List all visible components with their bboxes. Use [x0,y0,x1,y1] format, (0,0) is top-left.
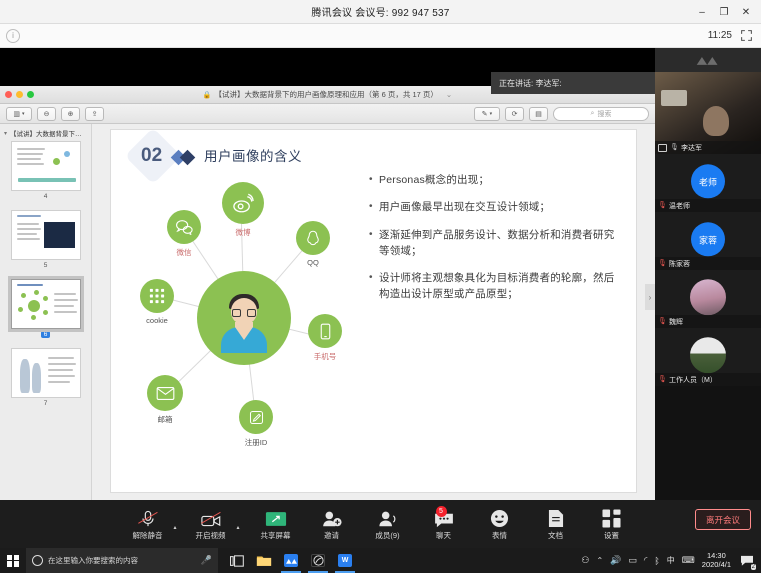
participant-tile[interactable]: 老师 🎙 温老师 [655,154,761,212]
next-slide-button[interactable]: › [645,284,655,310]
node-label-email: 邮箱 [144,414,186,425]
thumbnail-panel-header: ▾ 【试讲】大数据背景下的用户... [0,128,91,141]
mail-icon [156,386,175,401]
window-titlebar: 腾讯会议 会议号: 992 947 537 – ❐ ✕ [0,0,761,24]
tencent-meeting-logo-icon [695,55,721,66]
node-label-register-id: 注册ID [233,437,279,448]
toolbar-share-screen-button[interactable]: 共享屏幕 [248,508,304,541]
pencil-icon: ✎ [482,110,488,118]
node-wechat [167,210,201,244]
center-node-user [197,271,291,365]
toolbar-video-button[interactable]: 开启视频 [185,508,237,541]
camera-off-icon [201,508,221,528]
mac-zoom-icon[interactable] [27,91,34,98]
participants-icon [377,508,398,528]
node-qq [296,221,330,255]
chat-unread-badge: 5 [436,506,447,517]
invite-person-icon [322,508,342,528]
thumbnail-number: 4 [44,193,48,200]
avatar-initials: 家蓉 [699,233,717,246]
cortana-icon [32,555,43,566]
participant-tile[interactable]: 🎙 魏辉 [655,270,761,328]
battery-icon[interactable]: ▭ [628,555,637,566]
slide-bullet-list: • Personas概念的出现； • 用户画像最早出现在交互设计领域； • 逐渐… [369,172,624,314]
bluetooth-icon[interactable]: ᛒ [654,556,659,566]
avatar [690,337,726,373]
keyboard-icon[interactable]: ⌨ [682,555,695,566]
toolbar-label: 文档 [548,530,563,541]
shared-window-toolbar: ▥ ▾ ⊖ ⊕ ⇪ ✎ ▾ ⟳ ▤ ⌕ 搜索 [0,104,655,124]
people-icon[interactable]: ⚇ [581,555,589,566]
search-placeholder: 搜索 [597,109,611,119]
zoom-in-button[interactable]: ⊕ [61,107,80,121]
toolbar-label: 开启视频 [196,530,226,541]
participant-tile[interactable]: 🎙 工作人员（M） [655,328,761,386]
bullet-item: • Personas概念的出现； [369,172,624,188]
node-label-weibo: 微博 [222,227,264,238]
emoji-icon [490,508,509,528]
document-icon [548,508,564,528]
share-screen-icon [265,508,287,528]
slide-stage: 02 用户画像的含义 • Personas概念的出现； [92,124,655,500]
wechat-icon [175,218,194,237]
clock-date: 2020/4/1 [702,561,731,570]
maximize-button[interactable]: ❐ [713,0,735,24]
toolbar-label: 设置 [604,530,619,541]
slide-section-number: 02 [141,145,162,167]
qq-icon [304,229,322,247]
toolbar-participants-button[interactable]: 成员(9) [360,508,416,541]
share-button[interactable]: ⇪ [85,107,104,121]
diamond-decoration-icon [173,152,193,163]
active-speaker-banner: 正在讲话: 李达军: [491,72,655,94]
view-options-button[interactable]: ▥ ▾ [6,107,32,121]
thumbnail-number: 6 [41,331,51,338]
fullscreen-icon[interactable] [740,29,753,42]
view-icon: ▥ [13,110,20,118]
thumbnail-item[interactable]: 4 [0,141,91,200]
thumbnail-item-selected[interactable]: 6 [0,279,91,338]
chevron-up-icon: ▴ [237,524,240,531]
markup-button[interactable]: ✎ ▾ [474,107,500,121]
minimize-button[interactable]: – [691,0,713,24]
active-speaker-label: 正在讲话: 李达军: [499,78,562,89]
task-view-button[interactable] [224,548,250,573]
node-email [147,375,183,411]
thumbnail-item[interactable]: 5 [0,210,91,269]
node-label-qq: QQ [296,258,330,267]
bullet-item: • 逐渐延伸到产品服务设计、数据分析和消费者研究等领域； [369,227,624,260]
meeting-subbar: i 11:25 [0,24,761,48]
screen-share-icon [658,144,667,152]
taskbar-browser[interactable] [305,548,331,573]
rotate-button[interactable]: ⟳ [505,107,524,121]
toolbar-invite-button[interactable]: 邀请 [304,508,360,541]
notifications-count: 2 [751,564,756,570]
microphone-muted-icon [140,508,156,528]
bullet-item: • 设计师将主观想象具化为目标消费者的轮廓，然后构造出设计原型或产品原型； [369,270,624,303]
zoom-out-button[interactable]: ⊖ [37,107,56,121]
participant-name: 魏辉 [669,317,683,327]
bullet-text: 逐渐延伸到产品服务设计、数据分析和消费者研究等领域； [379,227,624,260]
bullet-text: Personas概念的出现； [379,172,624,188]
taskbar-clock[interactable]: 14:30 2020/4/1 [702,552,731,569]
participant-tile[interactable]: 家蓉 🎙 陈家蓉 [655,212,761,270]
toolbar-document-button[interactable]: 文档 [528,508,584,541]
avatar: 家蓉 [691,222,725,256]
slide-canvas: 02 用户画像的含义 • Personas概念的出现； [111,130,636,492]
markup-caret-icon: ▾ [490,111,493,117]
search-icon: ⌕ [591,110,595,118]
toolbar-emoji-button[interactable]: 表情 [472,508,528,541]
shared-document-title-text: 【试讲】大数据背景下的用户画像原理和应用（第 6 页，共 17 页） [215,90,438,99]
windows-start-icon [7,555,19,567]
microphone-muted-icon: 🎙 [658,376,666,384]
tencent-meeting-icon [284,554,298,567]
audio-options-caret[interactable]: ▴ [174,518,185,531]
toolbar-label: 共享屏幕 [261,530,291,541]
toolbar-settings-button[interactable]: 设置 [584,508,640,541]
toolbar-label: 聊天 [436,530,451,541]
taskbar-tencent-meeting[interactable] [278,548,304,573]
ime-indicator[interactable]: 中 [667,555,675,566]
weibo-icon [232,192,255,215]
thumbnail-item[interactable]: 7 [0,348,91,407]
task-view-icon [230,555,244,567]
avatar [690,279,726,315]
participant-namebar: 🎙 工作人员（M） [655,373,761,386]
node-label-phone: 手机号 [301,351,349,362]
taskbar-wps[interactable]: W [332,548,358,573]
windows-taskbar: 在这里输入你要搜索的内容 🎤 [0,548,761,573]
taskbar-file-explorer[interactable] [251,548,277,573]
leave-meeting-button[interactable]: 离开会议 [695,509,751,530]
notifications-button[interactable]: 2 [738,548,756,573]
thumbnail-preview [11,141,81,191]
taskbar-search-placeholder: 在这里输入你要搜索的内容 [48,555,196,566]
participant-name: 温老师 [669,201,690,211]
chevron-up-icon: ▴ [174,524,177,531]
rail-top-strip [655,48,761,72]
browser-icon [311,554,325,567]
video-background-object [661,90,687,106]
participant-namebar: 🎙 温老师 [655,199,761,212]
file-explorer-icon [256,554,272,567]
slide-thumbnail-panel[interactable]: ▾ 【试讲】大数据背景下的用户... 4 [0,124,92,500]
phone-icon [318,323,333,340]
node-label-wechat: 微信 [167,247,201,258]
mac-minimize-icon[interactable] [16,91,23,98]
meeting-clock: 11:25 [708,30,732,41]
bullet-item: • 用户画像最早出现在交互设计领域； [369,199,624,215]
toolbar-label: 解除静音 [133,530,163,541]
thumbnail-number: 7 [44,400,48,407]
glasses-icon [232,309,256,317]
view-caret-icon: ▾ [22,111,25,117]
participant-rail[interactable]: 🎙 李达军 老师 🎙 温老师 家蓉 🎙 陈家蓉 [655,48,761,548]
participant-name: 陈家蓉 [669,259,690,269]
microphone-muted-icon: 🎙 [658,202,666,210]
shared-window-body: ▾ 【试讲】大数据背景下的用户... 4 [0,124,655,500]
node-cookie [140,279,174,313]
mac-traffic-lights[interactable] [5,91,34,98]
participant-name: 李达军 [681,143,702,153]
system-tray: ⚇ ⌃ 🔊 ▭ ◜ ᛒ 中 ⌨ 14:30 2020/4/1 2 [581,548,761,573]
thumbnail-preview [11,210,81,260]
bullet-text: 设计师将主观想象具化为目标消费者的轮廓，然后构造出设计原型或产品原型； [379,270,624,303]
participant-namebar: 🎙 陈家蓉 [655,257,761,270]
microphone-icon: 🎙 [670,144,678,152]
settings-grid-icon [602,508,621,528]
network-icon[interactable]: ◜ [644,555,648,566]
close-button[interactable]: ✕ [735,0,757,24]
toolbar-label: 成员(9) [375,530,399,541]
video-options-caret[interactable]: ▴ [237,518,248,531]
taskbar-apps: W [224,548,358,573]
meeting-toolbar: 解除静音 ▴ 开启视频 ▴ [0,500,761,548]
meeting-info-icon[interactable]: i [6,29,20,43]
participant-namebar: 🎙 李达军 [655,141,761,154]
screen-root: 腾讯会议 会议号: 992 947 537 – ❐ ✕ i 11:25 [0,0,761,573]
participant-namebar: 🎙 魏辉 [655,315,761,328]
bullet-text: 用户画像最早出现在交互设计领域； [379,199,624,215]
microphone-icon[interactable]: 🎤 [201,555,212,566]
microphone-muted-icon: 🎙 [658,318,666,326]
bullet-marker: • [369,199,379,215]
thumbnail-number: 5 [44,262,48,269]
thumbnail-preview [11,348,81,398]
participant-name: 工作人员（M） [669,375,717,385]
window-controls: – ❐ ✕ [691,0,757,24]
wps-icon: W [338,554,352,567]
toolbar-label: 表情 [492,530,507,541]
meeting-canvas: 🔒【试讲】大数据背景下的用户画像原理和应用（第 6 页，共 17 页）chevr… [0,48,761,548]
user-persona-diagram: 微信 微博 [129,168,359,468]
shared-screen-window: 🔒【试讲】大数据背景下的用户画像原理和应用（第 6 页，共 17 页）chevr… [0,86,655,500]
window-title: 腾讯会议 会议号: 992 947 537 [311,4,449,19]
toolbar-label: 邀请 [324,530,339,541]
pencil-icon [248,409,265,426]
taskbar-search-input[interactable]: 在这里输入你要搜索的内容 🎤 [26,548,218,573]
microphone-muted-icon: 🎙 [658,260,666,268]
avatar: 老师 [691,164,725,198]
node-weibo [222,182,264,224]
chevron-up-icon[interactable]: ⌃ [596,556,603,565]
annotate-button[interactable]: ▤ [529,107,548,121]
mac-close-icon[interactable] [5,91,12,98]
cookie-grid-icon [149,288,165,304]
bullet-marker: • [369,227,379,260]
search-input[interactable]: ⌕ 搜索 [553,107,649,121]
bullet-marker: • [369,172,379,188]
bullet-marker: • [369,270,379,303]
title-caret-glyph[interactable]: ⌄ [446,90,452,99]
thumbnail-preview [11,279,81,329]
toolbar-chat-button[interactable]: 5 聊天 [416,508,472,541]
participant-tile[interactable]: 🎙 李达军 [655,72,761,154]
slide-title: 用户画像的含义 [204,145,302,165]
volume-icon[interactable]: 🔊 [610,555,621,566]
participant-face [703,106,729,136]
node-register-id [239,400,273,434]
node-phone [308,314,342,348]
start-button[interactable] [0,548,26,573]
toolbar-mute-button[interactable]: 解除静音 [122,508,174,541]
avatar-initials: 老师 [699,175,717,188]
chat-bubble-icon: 5 [433,508,455,528]
thumbnail-panel-title: 【试讲】大数据背景下的用户... [10,128,87,138]
node-label-cookie: cookie [134,316,180,325]
chevron-down-icon[interactable]: ▾ [4,130,7,137]
lock-icon: 🔒 [203,92,212,99]
